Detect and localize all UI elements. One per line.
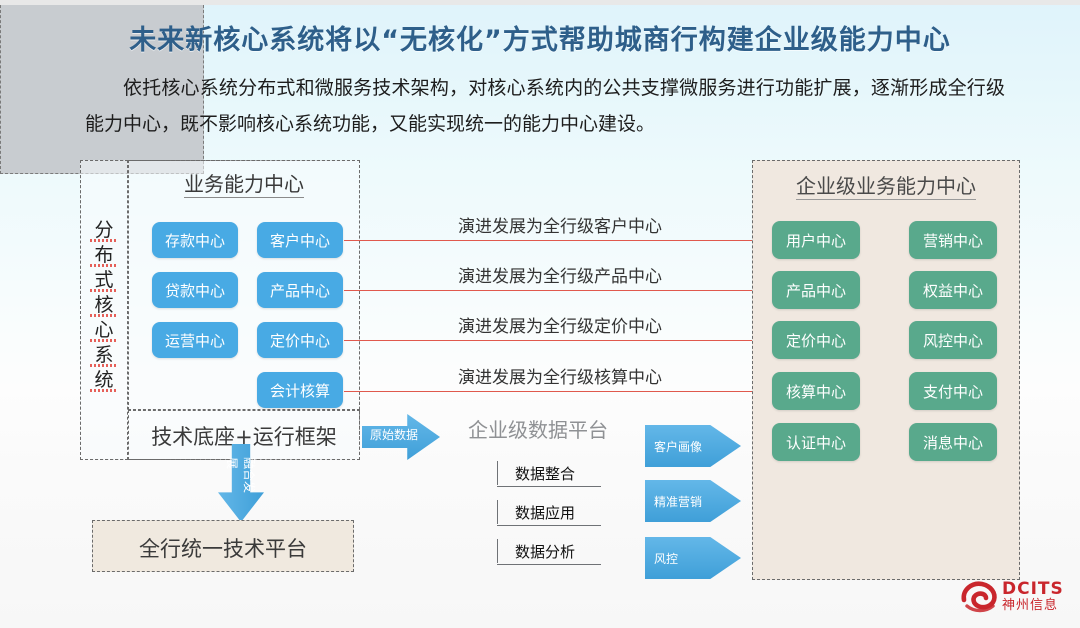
output-arrow-precision-marketing: 精准营销 [645,480,741,522]
ent-box-payment[interactable]: 支付中心 [909,372,997,410]
raw-data-arrow-label: 原始数据 [362,426,426,443]
ent-box-user[interactable]: 用户中心 [772,221,860,259]
distributed-core-system-label-char: 系 [88,343,120,368]
distributed-core-system-label-char: 核 [88,293,120,318]
ent-box-risk[interactable]: 风控中心 [909,321,997,359]
capability-box-operation[interactable]: 运营中心 [152,322,238,358]
output-arrow-risk-control-label: 风控 [645,550,678,567]
ent-box-accounting[interactable]: 核算中心 [772,372,860,410]
evolution-line-4 [344,391,768,392]
business-capability-center-title: 业务能力中心 [128,168,360,197]
capability-box-loan[interactable]: 贷款中心 [152,272,238,308]
business-capability-center-title-text: 业务能力中心 [184,168,304,197]
capability-box-pricing[interactable]: 定价中心 [257,322,343,358]
top-strip [0,0,1080,5]
distributed-core-system-label-char: 布 [88,243,120,268]
distributed-core-system-label-char: 统 [88,368,120,393]
output-arrow-customer-profile: 客户画像 [645,425,741,467]
ent-box-pricing[interactable]: 定价中心 [772,321,860,359]
dcits-logo-cn: 神州信息 [1002,598,1064,614]
evolution-label-3: 演进发展为全行级定价中心 [400,312,720,337]
page-subtitle: 依托核心系统分布式和微服务技术架构，对核心系统内的公共支撑微服务进行功能扩展，逐… [85,70,1005,142]
data-item-application[interactable]: 数据应用 [497,498,593,526]
distributed-core-system-label-char: 式 [88,268,120,293]
capability-box-deposit[interactable]: 存款中心 [152,222,238,258]
ent-box-product[interactable]: 产品中心 [772,271,860,309]
evolution-label-4: 演进发展为全行级核算中心 [400,363,720,388]
dcits-logo-mark [958,578,1000,616]
ent-box-auth[interactable]: 认证中心 [772,423,860,461]
distributed-core-system-label: 分布式核心系统 [88,218,120,393]
enterprise-capability-center-title: 企业级业务能力中心 [752,170,1020,199]
distributed-core-system-label-char: 分 [88,218,120,243]
merge-development-arrow-label: 融合发展 [213,457,269,503]
ent-box-rights[interactable]: 权益中心 [909,271,997,309]
capability-box-accounting[interactable]: 会计核算 [257,372,343,408]
data-item-analysis[interactable]: 数据分析 [497,537,593,565]
output-arrow-risk-control: 风控 [645,537,741,579]
evolution-line-2 [344,290,768,291]
ent-box-message[interactable]: 消息中心 [909,423,997,461]
ent-box-marketing[interactable]: 营销中心 [909,221,997,259]
slide-canvas: 未来新核心系统将以“无核化”方式帮助城商行构建企业级能力中心 依托核心系统分布式… [0,0,1080,628]
distributed-core-system-label-char: 心 [88,318,120,343]
enterprise-data-platform-title: 企业级数据平台 [437,414,639,443]
unified-tech-platform-label: 全行统一技术平台 [92,533,354,563]
evolution-label-1: 演进发展为全行级客户中心 [400,212,720,237]
capability-box-customer[interactable]: 客户中心 [257,222,343,258]
data-item-integration[interactable]: 数据整合 [497,459,593,487]
capability-box-product[interactable]: 产品中心 [257,272,343,308]
page-title: 未来新核心系统将以“无核化”方式帮助城商行构建企业级能力中心 [0,18,1080,57]
enterprise-capability-center-title-text: 企业级业务能力中心 [796,170,976,199]
dcits-logo-en: DCITS [1002,580,1064,598]
evolution-label-2: 演进发展为全行级产品中心 [400,262,720,287]
dcits-logo-text: DCITS 神州信息 [1002,580,1064,614]
output-arrow-customer-profile-label: 客户画像 [645,438,702,455]
output-arrow-precision-marketing-label: 精准营销 [645,493,702,510]
evolution-line-1 [344,240,768,241]
evolution-line-3 [344,340,768,341]
